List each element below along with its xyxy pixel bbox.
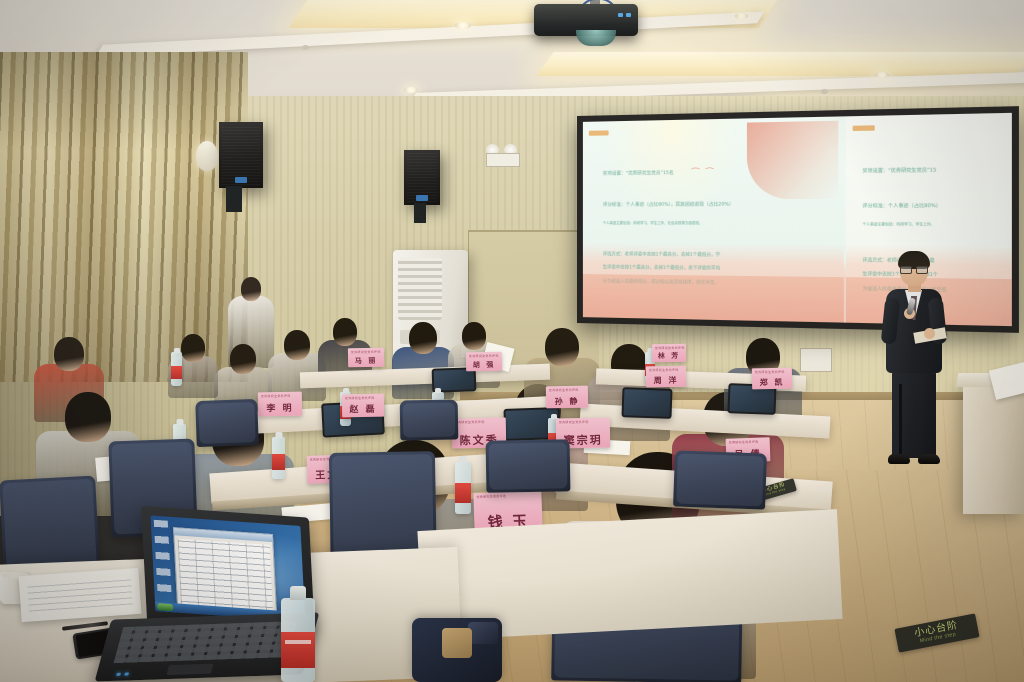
keyboard[interactable]	[114, 621, 297, 663]
name-card-row3-a: 优秀研究生党员评选李 明	[258, 392, 302, 417]
name-card-row2-c: 优秀研究生党员评选郑 凯	[752, 368, 792, 390]
projector-led-1	[618, 13, 623, 17]
water-bottle-3	[272, 437, 285, 479]
podium-lectern	[963, 382, 1024, 514]
name-card-header: 优秀研究生党员评选	[755, 370, 785, 375]
conference-room-photo: ⁀ ⁀ 奖项设置：“优秀研究生党员”15名 评分标准：个人事迹（占比80%），民…	[0, 0, 1024, 682]
speaker-grill	[222, 125, 260, 185]
water-bottle-foreground	[281, 586, 315, 682]
bottle-label	[281, 632, 315, 668]
chair-row2-mid[interactable]	[486, 439, 571, 492]
person-head	[333, 318, 357, 346]
power-led	[116, 673, 121, 676]
name-card-header: 优秀研究生党员评选	[559, 420, 589, 425]
presenter-shoe-left	[888, 454, 910, 464]
bottle-cap	[174, 348, 180, 353]
person-head	[181, 334, 205, 362]
name-card-header: 优秀研究生党员评选	[351, 350, 381, 355]
bottle-cap	[176, 419, 183, 425]
slide-right-line-3: 个人事迹主要包括：科研学习、学生工作、	[862, 222, 934, 227]
ac-vent	[398, 258, 442, 320]
desktop-monitor-3	[621, 387, 672, 419]
name-card-header: 优秀研究生党员评选	[729, 440, 759, 445]
spreadsheet-grid[interactable]	[178, 538, 273, 614]
name-card-row2-a: 优秀研究生党员评选周 洋	[646, 366, 686, 388]
sprinkler-head-1	[302, 45, 309, 50]
presenter-speaker	[878, 254, 950, 472]
person-head	[230, 344, 256, 374]
name-card-row1-b: 优秀研究生党员评选胡 强	[466, 352, 502, 372]
folder-tan	[442, 628, 472, 658]
backpack-strap	[468, 622, 498, 644]
window-curtain	[0, 52, 248, 382]
bottle-cap	[275, 432, 282, 438]
monitor-screen	[624, 389, 671, 417]
chair-backrest	[403, 403, 456, 438]
person-head	[241, 277, 261, 301]
emergency-light	[484, 144, 520, 166]
bottle-cap	[343, 388, 349, 393]
glasses-icon	[900, 266, 928, 272]
wall-av-jack	[800, 348, 832, 372]
name-card-header: 优秀研究生党员评选	[649, 368, 679, 373]
name-card-row3-c: 优秀研究生党员评选孙 静	[546, 386, 588, 409]
attendee-blue-man	[392, 322, 454, 406]
chair-backrest	[198, 402, 255, 444]
bottle-cap	[435, 388, 441, 393]
bottle-label	[272, 454, 285, 470]
name-card-row3-b: 优秀研究生党员评选赵 磊	[342, 394, 384, 418]
wall-speaker-left	[219, 122, 263, 188]
person-head	[409, 322, 437, 354]
name-card-row1-a: 优秀研究生党员评选马 丽	[348, 348, 384, 368]
cove-light-2	[536, 52, 1024, 76]
name-card-header: 优秀研究生党员评选	[549, 388, 579, 393]
emergency-light-box	[486, 153, 520, 167]
wall-speaker-right	[404, 150, 440, 205]
name-card-row1-c: 优秀研究生党员评选林 芳	[652, 344, 686, 363]
trackpad[interactable]	[166, 664, 213, 676]
name-card-name: 林 芳	[658, 353, 681, 362]
slide-bottom-band	[583, 274, 844, 322]
chair-backrest	[489, 442, 568, 489]
slide-flag-graphic	[747, 121, 839, 200]
chair-row3-mid[interactable]	[400, 399, 459, 440]
name-card-header: 优秀研究生党员评选	[261, 394, 291, 399]
start-button[interactable]	[157, 603, 173, 611]
wall-sconce	[196, 141, 218, 171]
water-bottle-1	[171, 352, 182, 386]
person-head	[284, 330, 310, 360]
downlight-6	[735, 13, 748, 19]
sprinkler-head-2	[821, 89, 828, 94]
ceiling-projector	[534, 0, 644, 45]
chair-backrest	[676, 454, 764, 507]
projection-screen: ⁀ ⁀ 奖项设置：“优秀研究生党员”15名 评分标准：个人事迹（占比80%），民…	[577, 106, 1019, 333]
curtain-shading	[0, 52, 248, 382]
name-card-name: 胡 强	[473, 362, 496, 371]
name-card-header: 优秀研究生党员评选	[655, 346, 685, 351]
person-head	[545, 328, 579, 366]
bottle-cap	[459, 456, 467, 463]
slide-corner-tag	[853, 125, 875, 131]
projector-led-2	[626, 13, 631, 17]
person-head	[54, 337, 84, 371]
downlight-4	[404, 87, 418, 93]
name-card-name: 马 丽	[355, 358, 378, 367]
water-bottle-6	[455, 462, 471, 514]
presenter-hand-right	[924, 328, 935, 339]
slide-right-line-2: 评分标准：个人事迹（占比80%）	[862, 203, 941, 210]
status-led	[124, 672, 129, 675]
person-head	[65, 392, 111, 442]
name-card-name: 孙 静	[555, 398, 580, 408]
name-card-name: 周 洋	[654, 377, 679, 387]
name-card-name: 李 明	[266, 405, 293, 416]
name-card-name: 赵 磊	[349, 406, 376, 417]
slide-corner-tag	[589, 130, 609, 135]
person-head	[462, 322, 486, 350]
name-card-header: 优秀研究生党员评选	[455, 420, 485, 425]
bottle-body	[281, 598, 315, 682]
speaker-bracket-left	[226, 186, 242, 212]
name-card-header: 优秀研究生党员评选	[469, 354, 499, 359]
slide-left: ⁀ ⁀ 奖项设置：“优秀研究生党员”15名 评分标准：个人事迹（占比80%），民…	[583, 116, 844, 322]
chair-row3-left[interactable]	[195, 399, 259, 447]
slide-left-line-3: 个人事迹主要包括：科研学习、学生工作、社会实践等方面表现。	[603, 220, 703, 225]
downlight-5	[875, 72, 889, 78]
name-card-header: 优秀研究生党员评选	[476, 494, 506, 499]
chair-row2-right[interactable]	[673, 450, 767, 509]
slide-left-line-5: 生评委中去掉1个最高分，去掉1个最低分，余下评委的平均	[603, 265, 720, 272]
speaker-badge	[416, 195, 428, 201]
downlight-3	[455, 22, 471, 29]
projector-lens	[576, 30, 616, 46]
slide-right-line-1: 奖项设置：“优秀研究生党员”15	[862, 167, 936, 174]
bottle-label	[455, 483, 471, 503]
name-card-name: 郑 凯	[760, 379, 785, 389]
name-card-header: 优秀研究生党员评选	[345, 396, 375, 401]
bottle-cap	[290, 586, 306, 600]
presenter-shoe-right	[918, 454, 940, 464]
slide-bird-graphic: ⁀ ⁀	[692, 167, 716, 179]
speaker-badge	[235, 177, 247, 183]
bottle-label	[171, 366, 182, 379]
slide-left-line-2: 评分标准：个人事迹（占比80%），民族团结表现（占比20%）	[603, 201, 734, 208]
slide-left-line-1: 奖项设置：“优秀研究生党员”15名	[603, 170, 674, 177]
presenter-leg-split	[899, 384, 902, 456]
monitor-screen	[730, 385, 775, 413]
slide-left-line-4: 评选方式：老师评委中去掉1个最高分，去掉1个最低分，学	[603, 251, 720, 258]
speaker-bracket-right	[414, 203, 426, 223]
